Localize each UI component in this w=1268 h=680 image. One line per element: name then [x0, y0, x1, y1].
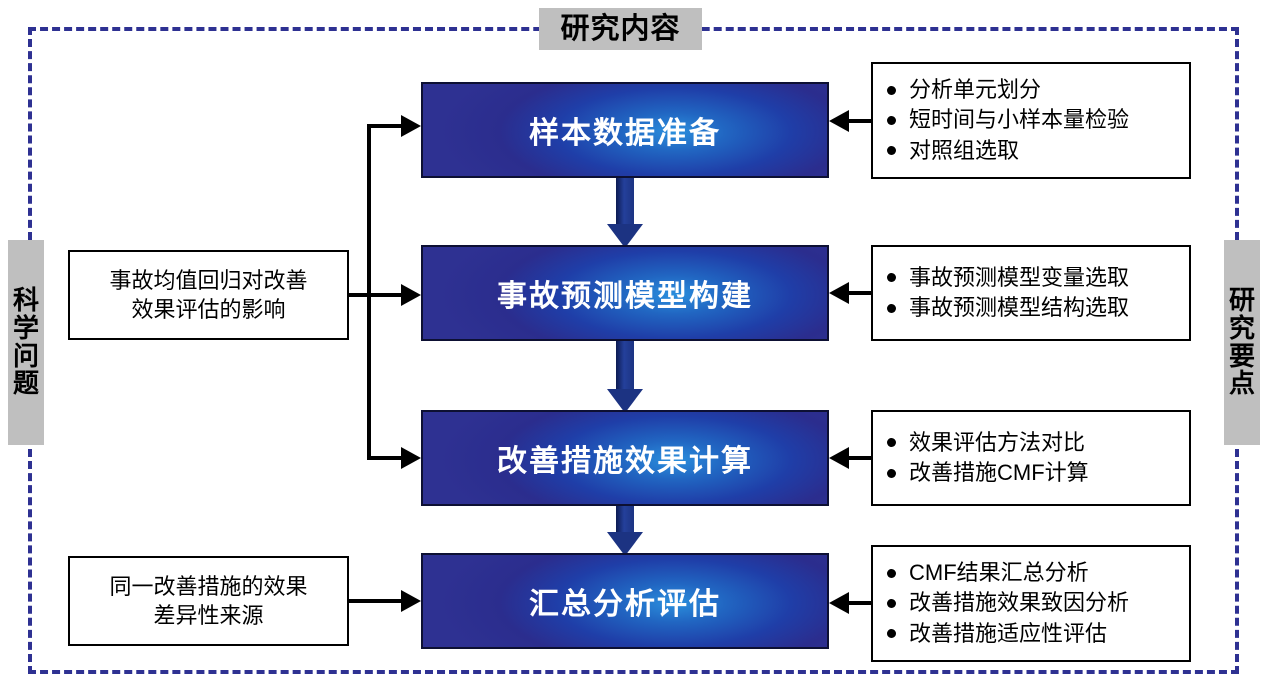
bullet-dot-icon	[887, 116, 896, 125]
flow-arrow-shaft	[616, 339, 634, 391]
key-point-label: 短时间与小样本量检验	[909, 105, 1129, 135]
key-point-label: 对照组选取	[909, 136, 1019, 166]
bullet-dot-icon	[887, 599, 896, 608]
process-box-crash-prediction-model[interactable]: 事故预测模型构建	[421, 245, 829, 341]
bullet-dot-icon	[887, 273, 896, 282]
key-point-label: 改善措施适应性评估	[909, 619, 1107, 649]
key-point-label: 改善措施效果致因分析	[909, 588, 1129, 618]
arrow-right-icon	[401, 284, 421, 306]
left-tab-char-1: 学	[13, 315, 39, 343]
flow-arrow-down-2	[607, 339, 643, 413]
bullet-dot-icon	[887, 629, 896, 638]
process-box-sample-data-preparation[interactable]: 样本数据准备	[421, 82, 829, 178]
right-tab-char-3: 点	[1229, 370, 1255, 398]
arrow-right-icon	[401, 447, 421, 469]
flow-arrow-shaft	[616, 176, 634, 226]
diagram-canvas: 研究内容 科 学 问 题 研 究 要 点 样本数据准备 事故预测模型构建 改善措…	[0, 0, 1268, 680]
bullet-dot-icon	[887, 469, 896, 478]
key-points-box-4[interactable]: CMF结果汇总分析 改善措施效果致因分析 改善措施适应性评估	[871, 545, 1191, 662]
flow-arrow-down-3	[607, 504, 643, 556]
science-question-1-line-1: 事故均值回归对改善	[109, 266, 307, 295]
right-tab-char-2: 要	[1229, 343, 1255, 371]
list-item: 效果评估方法对比	[887, 428, 1179, 458]
list-item: 事故预测模型结构选取	[887, 293, 1179, 323]
key-point-label: 事故预测模型变量选取	[909, 263, 1129, 293]
key-points-box-1[interactable]: 分析单元划分 短时间与小样本量检验 对照组选取	[871, 62, 1191, 179]
research-keypoints-side-tab: 研 究 要 点	[1224, 240, 1260, 445]
research-content-title-tab: 研究内容	[539, 8, 702, 50]
list-item: 对照组选取	[887, 136, 1179, 166]
list-item: 分析单元划分	[887, 75, 1179, 105]
science-question-text-1: 事故均值回归对改善 效果评估的影响	[109, 266, 307, 324]
flow-arrow-down-1	[607, 176, 643, 248]
bullet-dot-icon	[887, 86, 896, 95]
science-question-2-line-2: 差异性来源	[109, 601, 307, 630]
right-tab-char-1: 究	[1229, 315, 1255, 343]
connector-q1-bus	[367, 124, 371, 460]
key-point-label: CMF结果汇总分析	[909, 558, 1089, 588]
connector-q1-to-proc1	[367, 124, 403, 128]
key-point-label: 事故预测模型结构选取	[909, 293, 1129, 323]
list-item: 改善措施适应性评估	[887, 619, 1179, 649]
science-question-1-line-2: 效果评估的影响	[109, 295, 307, 324]
connector-kp4-to-proc4	[849, 601, 873, 605]
connector-kp3-to-proc3	[849, 456, 873, 460]
list-item: 改善措施效果致因分析	[887, 588, 1179, 618]
process-box-summary-analysis-evaluation[interactable]: 汇总分析评估	[421, 553, 829, 649]
bullet-dot-icon	[887, 438, 896, 447]
arrow-right-icon	[401, 590, 421, 612]
bullet-dot-icon	[887, 146, 896, 155]
arrow-right-icon	[401, 115, 421, 137]
right-tab-char-0: 研	[1229, 287, 1255, 315]
list-item: 改善措施CMF计算	[887, 458, 1179, 488]
list-item: 短时间与小样本量检验	[887, 105, 1179, 135]
list-item: CMF结果汇总分析	[887, 558, 1179, 588]
key-point-label: 效果评估方法对比	[909, 428, 1085, 458]
arrow-left-icon	[829, 592, 849, 614]
science-question-side-tab: 科 学 问 题	[8, 240, 44, 445]
arrow-left-icon	[829, 282, 849, 304]
key-points-box-3[interactable]: 效果评估方法对比 改善措施CMF计算	[871, 410, 1191, 506]
left-tab-char-3: 题	[13, 370, 39, 398]
flow-arrow-shaft	[616, 504, 634, 534]
list-item: 事故预测模型变量选取	[887, 263, 1179, 293]
bullet-dot-icon	[887, 304, 896, 313]
left-tab-char-0: 科	[13, 287, 39, 315]
connector-q1-to-proc2	[367, 293, 403, 297]
connector-q1-to-proc3	[367, 456, 403, 460]
arrow-left-icon	[829, 447, 849, 469]
bullet-dot-icon	[887, 569, 896, 578]
science-question-2-line-1: 同一改善措施的效果	[109, 572, 307, 601]
connector-q2-to-proc4	[349, 599, 403, 603]
science-question-text-2: 同一改善措施的效果 差异性来源	[109, 572, 307, 630]
process-box-countermeasure-effect-calc[interactable]: 改善措施效果计算	[421, 410, 829, 506]
key-point-label: 分析单元划分	[909, 75, 1041, 105]
arrow-left-icon	[829, 110, 849, 132]
connector-kp2-to-proc2	[849, 291, 873, 295]
connector-kp1-to-proc1	[849, 119, 873, 123]
left-tab-char-2: 问	[13, 343, 39, 371]
key-points-box-2[interactable]: 事故预测模型变量选取 事故预测模型结构选取	[871, 245, 1191, 341]
science-question-box-2[interactable]: 同一改善措施的效果 差异性来源	[68, 556, 349, 646]
key-point-label: 改善措施CMF计算	[909, 458, 1089, 488]
science-question-box-1[interactable]: 事故均值回归对改善 效果评估的影响	[68, 250, 349, 340]
